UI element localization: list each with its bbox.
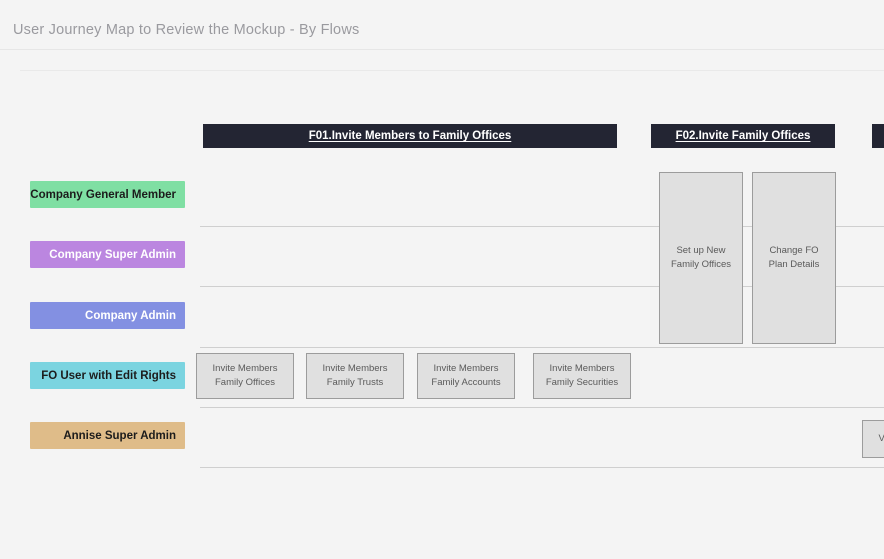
task-card[interactable]: Invite Members Family Trusts xyxy=(306,353,404,399)
lane-label-text: FO User with Edit Rights xyxy=(41,370,176,382)
task-card-label: Invite Members Family Accounts xyxy=(424,362,508,390)
lane-label-text: Annise Super Admin xyxy=(63,430,176,442)
task-card-label: Change FO Plan Details xyxy=(759,244,829,272)
title-bar: User Journey Map to Review the Mockup - … xyxy=(0,0,884,50)
lane-label-1[interactable]: Company General Member xyxy=(30,181,185,208)
task-card[interactable]: Invite Members Family Accounts xyxy=(417,353,515,399)
row-divider xyxy=(200,467,884,468)
lane-label-5[interactable]: Annise Super Admin xyxy=(30,422,185,449)
flow-header-label: F01.Invite Members to Family Offices xyxy=(309,130,512,142)
task-card-label: Val xyxy=(878,432,884,446)
lane-label-text: Company General Member xyxy=(30,189,176,201)
flow-header-label: F02.Invite Family Offices xyxy=(676,130,811,142)
task-card[interactable]: Invite Members Family Securities xyxy=(533,353,631,399)
lane-label-3[interactable]: Company Admin xyxy=(30,302,185,329)
lane-label-4[interactable]: FO User with Edit Rights xyxy=(30,362,185,389)
lane-label-text: Company Admin xyxy=(85,310,176,322)
row-divider xyxy=(200,347,884,348)
row-divider xyxy=(200,407,884,408)
task-card[interactable]: Val xyxy=(862,420,884,458)
lane-label-2[interactable]: Company Super Admin xyxy=(30,241,185,268)
task-card-label: Invite Members Family Securities xyxy=(540,362,624,390)
task-card[interactable]: Invite Members Family Offices xyxy=(196,353,294,399)
task-card-label: Set up New Family Offices xyxy=(666,244,736,272)
flow-header-3[interactable]: F xyxy=(872,124,884,148)
lane-label-text: Company Super Admin xyxy=(49,249,176,261)
flow-header-2[interactable]: F02.Invite Family Offices xyxy=(651,124,835,148)
task-card-label: Invite Members Family Offices xyxy=(203,362,287,390)
task-card[interactable]: Set up New Family Offices xyxy=(659,172,743,344)
task-card-label: Invite Members Family Trusts xyxy=(313,362,397,390)
task-card[interactable]: Change FO Plan Details xyxy=(752,172,836,344)
page-title: User Journey Map to Review the Mockup - … xyxy=(13,22,359,38)
journey-map-canvas[interactable]: F01.Invite Members to Family OfficesF02.… xyxy=(0,71,884,559)
flow-header-1[interactable]: F01.Invite Members to Family Offices xyxy=(203,124,617,148)
